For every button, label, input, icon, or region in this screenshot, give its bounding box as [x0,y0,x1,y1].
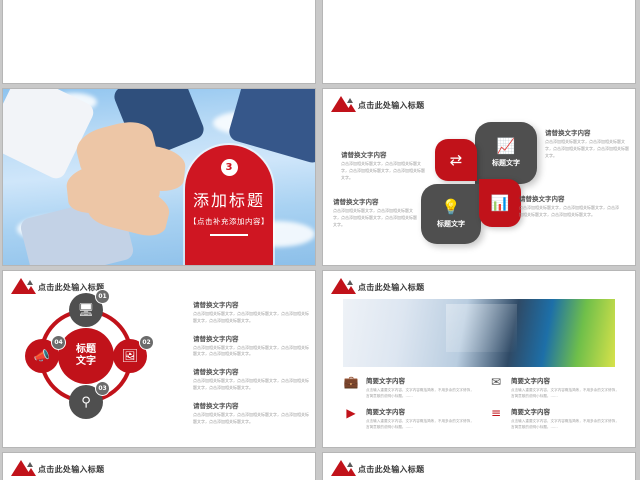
item-heading: 简要文字内容 [511,406,619,416]
slide-header: 点击此处输入标题 [331,460,424,476]
petal-label: 标题文字 [492,158,520,168]
petal-text-b: 请替换文字内容 点击添加相关标题文字，点击添加相关标题文字，点击添加相关标题文字… [545,127,631,159]
presentation-chart-icon: 📊 [491,196,510,211]
petal-bottom-right[interactable]: 📊 [479,179,521,227]
red-mountain-triangle-logo [331,460,355,476]
list-icon: ≡ [488,406,504,420]
red-mountain-triangle-logo [331,96,355,112]
diagram-hub[interactable]: 标题 文字 [58,328,114,384]
node-number-01: 01 [95,289,110,304]
search-icon: ⚲ [81,395,91,410]
slide-thumbnail-4[interactable]: 点击此处输入标题 📈 标题文字 ⇄ 💡 标题文字 📊 请替换文字内容 点击添加相… [322,88,636,266]
text-heading: 请替换文字内容 [193,400,309,410]
slide-header: 点击此处输入标题 [11,278,104,294]
petal-text-c: 请替换文字内容 点击添加相关标题文字，点击添加相关标题文字，点击添加相关标题文字… [333,196,419,228]
text-block: 请替换文字内容点击添加相关标题文字，点击添加相关标题文字，点击添加相关标题文字，… [193,400,309,426]
grid-item[interactable]: ≡ 简要文字内容 点击输入重要文字内容，文字内容概括简练，不用多余的文字修饰，言… [488,406,619,431]
petal-label: 标题文字 [437,219,465,229]
grid-item[interactable]: 💼 简要文字内容 点击输入重要文字内容，文字内容概括简练，不用多余的文字修饰，言… [343,375,474,400]
section-title: 添加标题 [193,187,265,211]
text-block: 请替换文字内容点击添加相关标题文字，点击添加相关标题文字，点击添加相关标题文字，… [193,366,309,392]
node-number-04: 04 [51,335,66,350]
text-body: 点击添加相关标题文字，点击添加相关标题文字，点击添加相关标题文字，点击添加相关标… [193,378,309,392]
text-heading: 请替换文字内容 [519,193,619,203]
section-number: 3 [221,159,238,176]
slide-thumbnail-3[interactable]: 3 添加标题 【点击补充添加内容】 [2,88,316,266]
text-heading: 请替换文字内容 [545,127,631,137]
text-body: 点击添加相关标题文字，点击添加相关标题文字，点击添加相关标题文字，点击添加相关标… [341,161,425,181]
text-body: 点击添加相关标题文字，点击添加相关标题文字，点击添加相关标题文字，点击添加相关标… [519,205,619,219]
text-block: 请替换文字内容点击添加相关标题文字，点击添加相关标题文字，点击添加相关标题文字，… [193,333,309,359]
image-frame-icon: 🖼 [122,349,139,364]
grid-item[interactable]: ▶ 简要文字内容 点击输入重要文字内容，文字内容概括简练，不用多余的文字修饰，言… [343,406,474,431]
slide-thumbnail-7[interactable]: 点击此处输入标题 [2,452,316,480]
item-heading: 简要文字内容 [366,406,474,416]
lightbulb-icon: 💡 [442,200,461,215]
slide-thumbnail-grid: ✈ ✓ ✈ ↧ 点击添加相关标题文字，点击添加相关标题文字，点击添加相关标题文字… [0,0,640,480]
text-body: 点击添加相关标题文字，点击添加相关标题文字，点击添加相关标题文字，点击添加相关标… [193,345,309,359]
slide-header: 点击此处输入标题 [331,278,424,294]
text-heading: 请替换文字内容 [341,149,425,159]
text-heading: 请替换文字内容 [333,196,419,206]
briefcase-icon: 💼 [343,375,359,389]
text-body: 点击添加相关标题文字，点击添加相关标题文字，点击添加相关标题文字，点击添加相关标… [545,139,631,159]
node-number-02: 02 [139,335,154,350]
text-body: 点击添加相关标题文字，点击添加相关标题文字，点击添加相关标题文字，点击添加相关标… [193,412,309,426]
petal-text-a: 请替换文字内容 点击添加相关标题文字，点击添加相关标题文字，点击添加相关标题文字… [341,149,425,181]
item-body: 点击输入重要文字内容，文字内容概括简练，不用多余的文字修饰，言简意赅的说明小标题… [511,387,619,400]
section-number-badge: 3 添加标题 【点击补充添加内容】 [185,145,273,266]
red-mountain-triangle-logo [11,460,35,476]
slide-header-title: 点击此处输入标题 [358,100,424,112]
slide-header-title: 点击此处输入标题 [38,282,104,294]
text-block: 请替换文字内容点击添加相关标题文字，点击添加相关标题文字，点击添加相关标题文字，… [193,299,309,325]
grid-item[interactable]: ✉ 简要文字内容 点击输入重要文字内容，文字内容概括简练，不用多余的文字修饰，言… [488,375,619,400]
hub-label-line1: 标题 [76,344,96,357]
exchange-arrows-icon: ⇄ [450,153,463,168]
text-heading: 请替换文字内容 [193,366,309,376]
slide-thumbnail-1[interactable]: ✈ ✓ ✈ ↧ 点击添加相关标题文字，点击添加相关标题文字，点击添加相关标题文字… [2,0,316,84]
play-video-icon: ▶ [343,406,359,420]
icon-item-grid: 💼 简要文字内容 点击输入重要文字内容，文字内容概括简练，不用多余的文字修饰，言… [343,375,619,431]
section-subtitle: 【点击补充添加内容】 [189,216,269,227]
hub-label-line2: 文字 [76,356,96,369]
text-body: 点击添加相关标题文字，点击添加相关标题文字，点击添加相关标题文字，点击添加相关标… [193,311,309,325]
text-heading: 请替换文字内容 [193,333,309,343]
slide-header-title: 点击此处输入标题 [38,464,104,476]
slide-thumbnail-2[interactable]: ✔ 请替换文字内容 点击添加相关标题文字，点击添加相关标题文字，点击添加相关标题… [322,0,636,84]
text-body: 点击添加相关标题文字，点击添加相关标题文字，点击添加相关标题文字，点击添加相关标… [333,208,419,228]
slide-thumbnail-8[interactable]: 点击此处输入标题 [322,452,636,480]
slide-header-title: 点击此处输入标题 [358,464,424,476]
item-heading: 简要文字内容 [511,375,619,385]
red-mountain-triangle-logo [331,278,355,294]
slide-thumbnail-5[interactable]: 点击此处输入标题 标题 文字 🖥 🖼 ⚲ 📣 01 02 03 04 请替换文字… [2,270,316,448]
petal-top-right[interactable]: 📈 标题文字 [475,122,537,184]
item-heading: 简要文字内容 [366,375,474,385]
monitor-icon: 🖥 [78,303,95,318]
slide-header: 点击此处输入标题 [331,96,424,112]
digital-screens-photo [343,299,615,367]
slide-header-title: 点击此处输入标题 [358,282,424,294]
petal-top-left[interactable]: ⇄ [435,139,477,181]
megaphone-icon: 📣 [34,349,50,364]
slide-thumbnail-6[interactable]: 点击此处输入标题 💼 简要文字内容 点击输入重要文字内容，文字内容概括简练，不用… [322,270,636,448]
item-body: 点击输入重要文字内容，文字内容概括简练，不用多余的文字修饰，言简意赅的说明小标题… [366,418,474,431]
petal-bottom-left[interactable]: 💡 标题文字 [421,184,481,244]
slide-header: 点击此处输入标题 [11,460,104,476]
monitor-chart-icon: 📈 [497,139,516,154]
envelope-icon: ✉ [488,375,504,389]
node-number-03: 03 [95,381,110,396]
item-body: 点击输入重要文字内容，文字内容概括简练，不用多余的文字修饰，言简意赅的说明小标题… [511,418,619,431]
divider-rule [210,234,248,236]
item-body: 点击输入重要文字内容，文字内容概括简练，不用多余的文字修饰，言简意赅的说明小标题… [366,387,474,400]
diagram-text-column: 请替换文字内容点击添加相关标题文字，点击添加相关标题文字，点击添加相关标题文字，… [193,299,309,433]
petal-text-d: 请替换文字内容 点击添加相关标题文字，点击添加相关标题文字，点击添加相关标题文字… [519,193,619,219]
red-mountain-triangle-logo [11,278,35,294]
text-heading: 请替换文字内容 [193,299,309,309]
